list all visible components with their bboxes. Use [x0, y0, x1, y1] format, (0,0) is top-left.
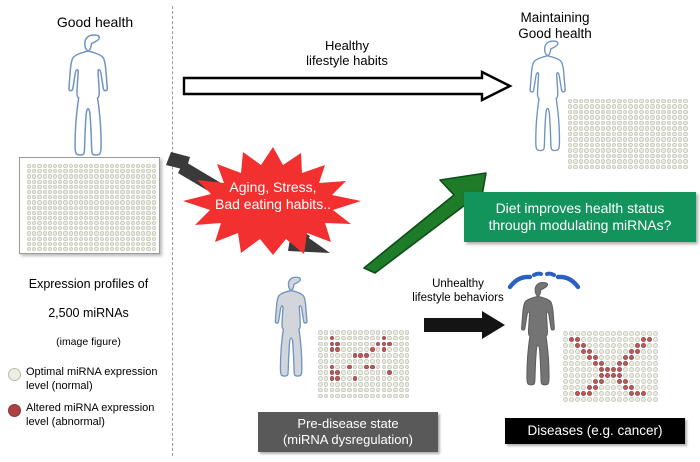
expression-dot [661, 165, 665, 169]
expression-dot [639, 104, 643, 108]
expression-dot [358, 347, 363, 352]
expression-dot [89, 169, 93, 173]
expression-dot [634, 154, 638, 158]
expression-dot [43, 180, 47, 184]
expression-dot [683, 143, 687, 147]
expression-dot [667, 148, 671, 152]
expression-dot [656, 121, 660, 125]
expression-dot [399, 370, 404, 375]
expression-dot [653, 331, 658, 336]
expression-dot [569, 361, 574, 366]
expression-dot [678, 99, 682, 103]
expression-dot [53, 190, 57, 194]
expression-dot [590, 121, 594, 125]
expression-dot [568, 137, 572, 141]
expression-dot [563, 343, 568, 348]
expression-dot [593, 361, 598, 366]
expression-dot [89, 195, 93, 199]
expression-dot [100, 247, 104, 251]
expression-dot [43, 195, 47, 199]
expression-dot [330, 347, 335, 352]
expression-dot [584, 121, 588, 125]
expression-dot [27, 206, 31, 210]
expression-dot [667, 99, 671, 103]
expression-dot [110, 221, 114, 225]
expression-dot [617, 331, 622, 336]
expression-dot [611, 385, 616, 390]
expression-dot [58, 185, 62, 189]
expression-dot [353, 382, 358, 387]
disease-expression-plate [563, 331, 659, 406]
expression-dot [595, 132, 599, 136]
expression-dot [353, 359, 358, 364]
expression-dot [628, 115, 632, 119]
expression-dot [126, 180, 130, 184]
expression-dot [573, 159, 577, 163]
expression-caption-line3: (image figure) [6, 336, 171, 348]
expression-dot [617, 165, 621, 169]
expression-dot [590, 110, 594, 114]
expression-dot [32, 237, 36, 241]
expression-dot [146, 206, 150, 210]
expression-dot [370, 347, 375, 352]
expression-dot [590, 99, 594, 103]
expression-dot [584, 148, 588, 152]
expression-dot [667, 132, 671, 136]
expression-dot [617, 361, 622, 366]
expression-dot [53, 231, 57, 235]
expression-dot [639, 132, 643, 136]
expression-dot [605, 391, 610, 396]
expression-dot [63, 200, 67, 204]
expression-dot [678, 137, 682, 141]
expression-dot [146, 242, 150, 246]
expression-dot [584, 104, 588, 108]
expression-dot [667, 110, 671, 114]
expression-dot [587, 385, 592, 390]
expression-dot [628, 110, 632, 114]
expression-dot [53, 211, 57, 215]
expression-dot [110, 185, 114, 189]
expression-dot [32, 180, 36, 184]
expression-dot [672, 159, 676, 163]
expression-dot [53, 216, 57, 220]
expression-dot [605, 361, 610, 366]
expression-dot [32, 242, 36, 246]
expression-dot [353, 388, 358, 393]
expression-dot [611, 379, 616, 384]
expression-dot [635, 343, 640, 348]
expression-dot [611, 373, 616, 378]
expression-dot [672, 121, 676, 125]
expression-dot [69, 164, 73, 168]
expression-dot [579, 159, 583, 163]
expression-dot [79, 211, 83, 215]
altered-dot-icon [8, 404, 21, 417]
expression-dot [89, 211, 93, 215]
expression-dot [617, 367, 622, 372]
expression-dot [94, 180, 98, 184]
expression-dot [387, 336, 392, 341]
expression-dot [382, 342, 387, 347]
expression-dot [37, 206, 41, 210]
expression-dot [120, 221, 124, 225]
expression-dot [69, 190, 73, 194]
expression-dot [387, 365, 392, 370]
expression-dot [136, 195, 140, 199]
expression-dot [393, 388, 398, 393]
expression-dot [678, 110, 682, 114]
expression-dot [27, 231, 31, 235]
expression-dot [131, 216, 135, 220]
expression-dot [628, 137, 632, 141]
expression-dot [645, 126, 649, 130]
expression-dot [634, 99, 638, 103]
expression-dot [634, 137, 638, 141]
expression-dot [126, 169, 130, 173]
expression-dot [650, 110, 654, 114]
expression-dot [115, 180, 119, 184]
expression-dot [601, 99, 605, 103]
expression-dot [358, 342, 363, 347]
healthy-person-icon [60, 32, 128, 154]
expression-dot [601, 104, 605, 108]
expression-dot [37, 211, 41, 215]
expression-dot [131, 237, 135, 241]
expression-dot [120, 190, 124, 194]
expression-dot [376, 394, 381, 399]
expression-dot [650, 121, 654, 125]
expression-dot [605, 355, 610, 360]
expression-dot [74, 216, 78, 220]
expression-dot [647, 373, 652, 378]
expression-dot [84, 237, 88, 241]
expression-dot [628, 165, 632, 169]
expression-dot [58, 226, 62, 230]
expression-dot [58, 242, 62, 246]
expression-dot [595, 110, 599, 114]
expression-dot [94, 190, 98, 194]
expression-dot [595, 165, 599, 169]
expression-dot [58, 221, 62, 225]
expression-dot [48, 231, 52, 235]
expression-dot [115, 221, 119, 225]
expression-dot [606, 126, 610, 130]
expression-dot [43, 200, 47, 204]
expression-dot [634, 159, 638, 163]
expression-dot [678, 121, 682, 125]
expression-dot [653, 397, 658, 402]
expression-dot [683, 132, 687, 136]
expression-dot [43, 211, 47, 215]
expression-dot [115, 211, 119, 215]
expression-dot [94, 185, 98, 189]
expression-dot [584, 132, 588, 136]
expression-dot [58, 216, 62, 220]
expression-dot [569, 385, 574, 390]
expression-dot [573, 148, 577, 152]
expression-dot [58, 200, 62, 204]
expression-dot [653, 343, 658, 348]
expression-dot [587, 373, 592, 378]
expression-dot [330, 376, 335, 381]
expression-dot [27, 237, 31, 241]
expression-dot [661, 126, 665, 130]
expression-dot [623, 361, 628, 366]
expression-dot [641, 367, 646, 372]
expression-dot [612, 121, 616, 125]
expression-dot [623, 148, 627, 152]
expression-dot [115, 190, 119, 194]
expression-dot [43, 237, 47, 241]
expression-dot [393, 342, 398, 347]
expression-dot [100, 169, 104, 173]
expression-dot [136, 164, 140, 168]
expression-dot [141, 211, 145, 215]
expression-dot [105, 180, 109, 184]
expression-dot [353, 342, 358, 347]
expression-dot [324, 376, 329, 381]
expression-dot [74, 247, 78, 251]
expression-dot [667, 143, 671, 147]
expression-dot [48, 185, 52, 189]
expression-dot [617, 137, 621, 141]
expression-dot [94, 169, 98, 173]
expression-dot [672, 110, 676, 114]
expression-dot [126, 231, 130, 235]
expression-dot [628, 104, 632, 108]
expression-dot [568, 115, 572, 119]
expression-dot [590, 159, 594, 163]
expression-dot [623, 137, 627, 141]
expression-dot [606, 148, 610, 152]
expression-dot [131, 195, 135, 199]
expression-dot [341, 353, 346, 358]
expression-dot [74, 211, 78, 215]
expression-dot [387, 359, 392, 364]
expression-dot [611, 391, 616, 396]
expression-dot [94, 164, 98, 168]
expression-dot [599, 343, 604, 348]
expression-dot [569, 337, 574, 342]
expression-dot [617, 154, 621, 158]
expression-dot [656, 110, 660, 114]
expression-dot [37, 226, 41, 230]
expression-dot [647, 397, 652, 402]
expression-dot [69, 247, 73, 251]
expression-dot [647, 361, 652, 366]
expression-dot [605, 343, 610, 348]
expression-dot [579, 104, 583, 108]
expression-dot [69, 226, 73, 230]
expression-dot [364, 353, 369, 358]
expression-dot [84, 231, 88, 235]
expression-dot [110, 242, 114, 246]
expression-dot [584, 115, 588, 119]
expression-dot [58, 231, 62, 235]
expression-dot [387, 347, 392, 352]
expression-dot [678, 165, 682, 169]
expression-dot [53, 164, 57, 168]
expression-dot [79, 206, 83, 210]
good-health-expression-plate [19, 157, 160, 254]
expression-dot [605, 331, 610, 336]
expression-dot [100, 164, 104, 168]
expression-dot [382, 394, 387, 399]
expression-dot [393, 394, 398, 399]
expression-dot [152, 190, 156, 194]
expression-dot [623, 143, 627, 147]
expression-dot [634, 121, 638, 125]
expression-dot [405, 388, 410, 393]
expression-dot [599, 337, 604, 342]
expression-dot [330, 330, 335, 335]
expression-dot [69, 242, 73, 246]
expression-dot [69, 174, 73, 178]
expression-dot [595, 137, 599, 141]
expression-dot [382, 347, 387, 352]
expression-dot [635, 385, 640, 390]
expression-dot [84, 180, 88, 184]
expression-dot [599, 379, 604, 384]
expression-dot [634, 148, 638, 152]
expression-dot [120, 237, 124, 241]
expression-dot [115, 174, 119, 178]
expression-dot [152, 226, 156, 230]
expression-dot [48, 211, 52, 215]
expression-dot [575, 361, 580, 366]
expression-dot [353, 353, 358, 358]
expression-dot [353, 370, 358, 375]
expression-dot [341, 370, 346, 375]
expression-dot [661, 148, 665, 152]
expression-dot [399, 388, 404, 393]
expression-dot [393, 347, 398, 352]
expression-dot [48, 180, 52, 184]
expression-dot [115, 237, 119, 241]
expression-dot [43, 164, 47, 168]
expression-dot [635, 361, 640, 366]
expression-dot [105, 169, 109, 173]
expression-dot [376, 370, 381, 375]
expression-dot [617, 148, 621, 152]
expression-dot [617, 126, 621, 130]
expression-dot [575, 343, 580, 348]
expression-dot [628, 148, 632, 152]
expression-dot [48, 200, 52, 204]
expression-dot [568, 104, 572, 108]
expression-dot [634, 132, 638, 136]
expression-dot [370, 388, 375, 393]
healthy-lifestyle-label: Healthy lifestyle habits [252, 38, 442, 69]
expression-dot [587, 343, 592, 348]
expression-dot [58, 206, 62, 210]
expression-dot [74, 174, 78, 178]
expression-dot [69, 216, 73, 220]
expression-dot [581, 367, 586, 372]
expression-dot [53, 242, 57, 246]
expression-dot [341, 382, 346, 387]
expression-dot [617, 379, 622, 384]
expression-dot [152, 164, 156, 168]
expression-dot [628, 154, 632, 158]
expression-dot [629, 349, 634, 354]
expression-dot [569, 349, 574, 354]
expression-dot [647, 391, 652, 396]
expression-dot [74, 180, 78, 184]
expression-dot [635, 337, 640, 342]
expression-dot [595, 148, 599, 152]
expression-dot [58, 247, 62, 251]
expression-dot [656, 154, 660, 158]
expression-dot [335, 342, 340, 347]
expression-dot [141, 200, 145, 204]
expression-dot [683, 159, 687, 163]
expression-dot [141, 216, 145, 220]
expression-dot [126, 206, 130, 210]
expression-dot [69, 231, 73, 235]
expression-dot [105, 226, 109, 230]
expression-dot [672, 165, 676, 169]
expression-dot [573, 110, 577, 114]
expression-dot [84, 226, 88, 230]
expression-dot [152, 206, 156, 210]
expression-dot [63, 206, 67, 210]
expression-dot [393, 353, 398, 358]
expression-dot [318, 330, 323, 335]
expression-dot [683, 110, 687, 114]
expression-dot [611, 361, 616, 366]
expression-dot [152, 211, 156, 215]
expression-dot [32, 164, 36, 168]
expression-dot [678, 159, 682, 163]
expression-dot [58, 180, 62, 184]
expression-dot [573, 121, 577, 125]
expression-dot [58, 190, 62, 194]
expression-dot [120, 231, 124, 235]
expression-dot [601, 115, 605, 119]
expression-dot [617, 355, 622, 360]
expression-dot [650, 137, 654, 141]
expression-dot [623, 165, 627, 169]
expression-dot [563, 361, 568, 366]
expression-dot [94, 226, 98, 230]
expression-dot [120, 216, 124, 220]
expression-dot [647, 343, 652, 348]
expression-dot [100, 231, 104, 235]
expression-dot [581, 391, 586, 396]
expression-dot [141, 206, 145, 210]
starburst-label: Aging, Stress, Bad eating habits.. [188, 179, 358, 212]
expression-dot [105, 206, 109, 210]
expression-dot [628, 159, 632, 163]
expression-dot [318, 370, 323, 375]
expression-dot [650, 148, 654, 152]
expression-dot [89, 185, 93, 189]
expression-dot [79, 174, 83, 178]
expression-dot [667, 104, 671, 108]
expression-dot [358, 359, 363, 364]
expression-dot [152, 237, 156, 241]
expression-dot [593, 355, 598, 360]
expression-dot [318, 336, 323, 341]
expression-dot [43, 221, 47, 225]
expression-dot [115, 247, 119, 251]
expression-dot [94, 195, 98, 199]
expression-dot [617, 115, 621, 119]
expression-dot [89, 180, 93, 184]
expression-dot [37, 221, 41, 225]
